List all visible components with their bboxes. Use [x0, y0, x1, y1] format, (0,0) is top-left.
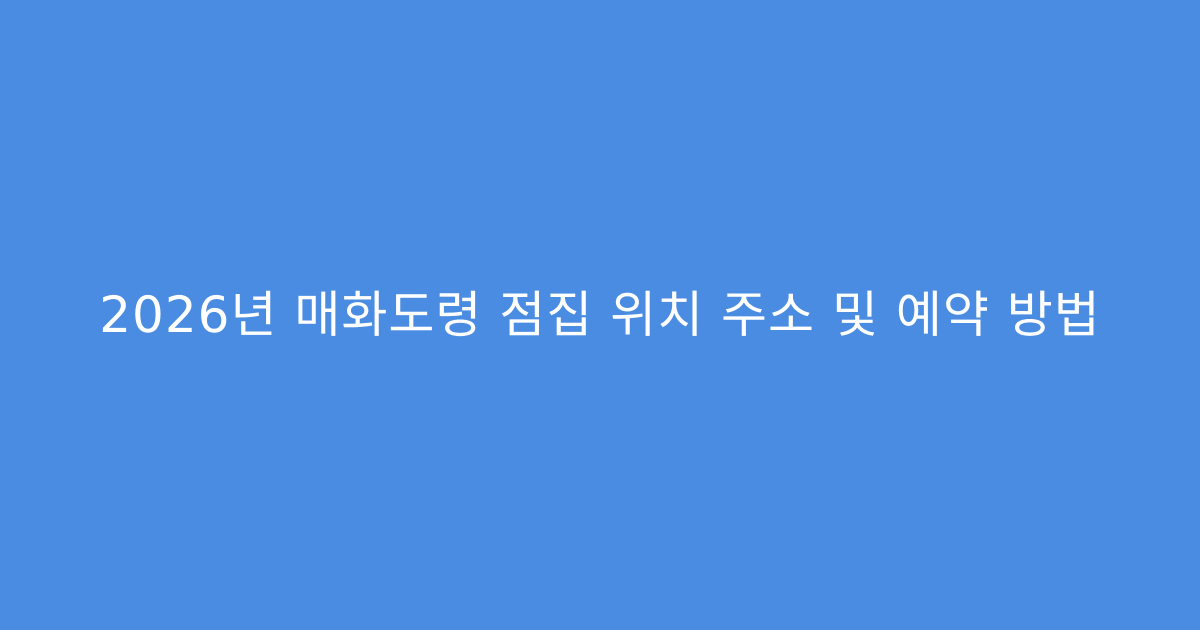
title-block: 2026년 매화도령 점집 위치 주소 및 예약 방법: [0, 283, 1200, 347]
title-card: 2026년 매화도령 점집 위치 주소 및 예약 방법: [0, 0, 1200, 630]
page-title: 2026년 매화도령 점집 위치 주소 및 예약 방법: [48, 283, 1152, 347]
